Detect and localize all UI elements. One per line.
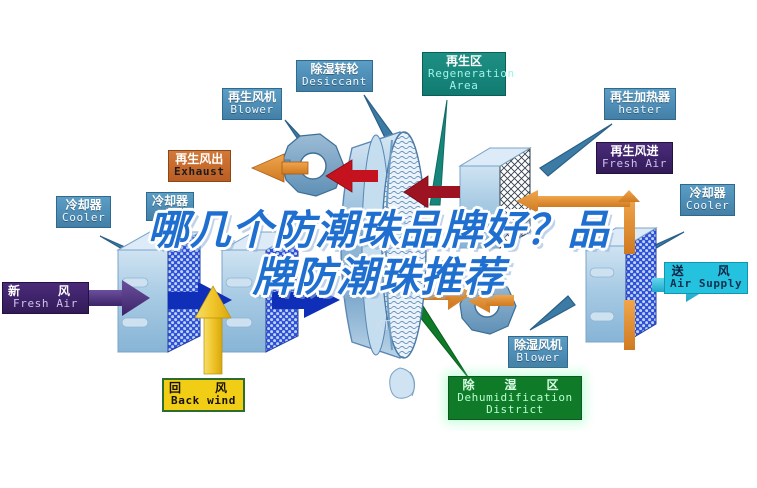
label-fresh-air-inlet[interactable]: 新 风 Fresh Air <box>2 282 89 314</box>
label-regen-heater[interactable]: 再生加热器 heater <box>604 88 676 120</box>
label-cooler-right[interactable]: 冷却器 Cooler <box>680 184 735 216</box>
label-regen-area[interactable]: 再生区 Regeneration Area <box>422 52 506 96</box>
label-regen-fresh-air[interactable]: 再生风进 Fresh Air <box>596 142 673 174</box>
label-air-supply-cn: 送 风 <box>670 265 742 278</box>
label-back-wind-cn: 回 风 <box>169 382 238 395</box>
label-regen-area-cn: 再生区 <box>428 55 500 68</box>
label-dehum-blower-en: Blower <box>514 352 562 364</box>
label-regen-blower-en: Blower <box>228 104 276 116</box>
regen-heater-box <box>460 148 530 248</box>
label-regen-fresh-air-en: Fresh Air <box>602 158 667 170</box>
label-regen-fresh-air-cn: 再生风进 <box>602 145 667 158</box>
label-fresh-air-inlet-en: Fresh Air <box>8 298 83 310</box>
label-cooler-mid-cn: 冷却器 <box>152 195 188 208</box>
label-dehum-district-en: Dehumidification District <box>454 392 576 416</box>
label-back-wind-en: Back wind <box>169 395 238 407</box>
label-desiccant-rotor-cn: 除湿转轮 <box>302 63 367 76</box>
svg-text:XT: XT <box>374 319 391 334</box>
label-fresh-air-inlet-cn: 新 风 <box>8 285 83 298</box>
label-cooler-left-en: Cooler <box>62 212 105 224</box>
label-desiccant-rotor-en: Desiccant <box>302 76 367 88</box>
diagram-canvas: XT <box>0 0 757 488</box>
label-cooler-left[interactable]: 冷却器 Cooler <box>56 196 111 228</box>
label-dehum-blower-cn: 除湿风机 <box>514 339 562 352</box>
label-dehum-district-cn: 除 湿 区 <box>454 379 576 392</box>
label-cooler-left-cn: 冷却器 <box>62 199 105 212</box>
label-regen-area-en: Regeneration Area <box>428 68 500 92</box>
label-desiccant-rotor[interactable]: 除湿转轮 Desiccant <box>296 60 373 92</box>
label-dehum-district[interactable]: 除 湿 区 Dehumidification District <box>448 376 582 420</box>
label-air-supply[interactable]: 送 风 Air Supply <box>664 262 748 294</box>
label-regen-exhaust[interactable]: 再生风出 Exhaust <box>168 150 231 182</box>
label-back-wind[interactable]: 回 风 Back wind <box>162 378 245 412</box>
label-regen-blower-cn: 再生风机 <box>228 91 276 104</box>
label-cooler-mid[interactable]: 冷却器 <box>146 192 194 221</box>
label-regen-exhaust-en: Exhaust <box>174 166 225 178</box>
label-cooler-right-cn: 冷却器 <box>686 187 729 200</box>
label-regen-heater-cn: 再生加热器 <box>610 91 670 104</box>
label-cooler-right-en: Cooler <box>686 200 729 212</box>
label-regen-heater-en: heater <box>610 104 670 116</box>
schematic-illustration: XT <box>0 0 757 488</box>
label-regen-exhaust-cn: 再生风出 <box>174 153 225 166</box>
label-regen-blower[interactable]: 再生风机 Blower <box>222 88 282 120</box>
supply-coil-unit <box>586 228 656 342</box>
label-air-supply-en: Air Supply <box>670 278 742 290</box>
label-dehum-blower[interactable]: 除湿风机 Blower <box>508 336 568 368</box>
